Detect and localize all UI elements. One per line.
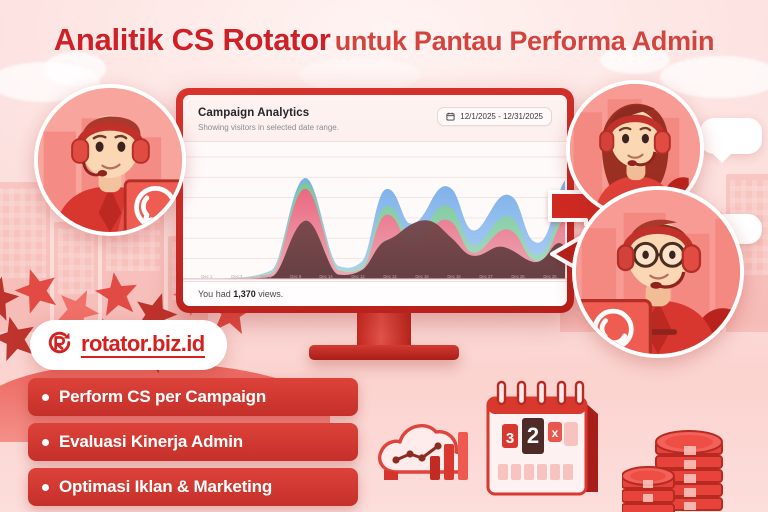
views-summary-value: 1,370 [233,289,256,299]
x-tick: Dec 16 [415,274,428,279]
date-range-label: 12/1/2025 - 12/31/2025 [460,112,543,121]
x-tick: Dec 26 [511,274,524,279]
bullet-dot-icon [42,394,49,401]
x-tick: Dec 14 [383,274,396,279]
feature-item-3[interactable]: Optimasi Iklan & Marketing [28,468,358,506]
speech-bubble [700,118,762,154]
x-tick: Dec 1 [201,274,212,279]
monitor-stand-base [309,345,459,360]
calendar-icon: 3 2 x [480,380,602,502]
bullet-dot-icon [42,484,49,491]
feature-item-label: Evaluasi Kinerja Admin [59,432,243,452]
monitor-stand-neck [357,313,411,347]
calendar-icon [446,112,455,121]
bullet-dot-icon [42,439,49,446]
feature-list: Perform CS per Campaign Evaluasi Kinerja… [28,378,358,512]
feature-item-1[interactable]: Perform CS per Campaign [28,378,358,416]
x-tick: Dec 9 [290,274,301,279]
chart-x-tick-labels: Dec 1 Dec 3 Dec 6 Dec 9 Dec 14 Dec 12 De… [183,274,567,279]
x-tick: Dec 6 [260,274,271,279]
x-tick: Dec 12 [351,274,364,279]
feature-item-2[interactable]: Evaluasi Kinerja Admin [28,423,358,461]
cs-agent-male-left [34,84,186,236]
views-summary: You had 1,370 views. [183,281,567,306]
cloud-icon [300,58,420,92]
analytics-card: Campaign Analytics Showing visitors in s… [183,95,567,306]
decor-icon-cluster: 3 2 x [372,378,768,512]
page-title-rest: untuk Pantau Performa Admin [335,26,714,56]
cs-agent-male-glasses-bottom-right [572,186,744,358]
feature-item-label: Optimasi Iklan & Marketing [59,477,272,497]
analytics-card-header: Campaign Analytics Showing visitors in s… [183,95,567,142]
coin-stack-icon [622,420,752,512]
date-range-picker[interactable]: 12/1/2025 - 12/31/2025 [437,107,552,126]
calendar-day-next: x [552,426,559,440]
x-tick: Dec 3 [231,274,242,279]
x-tick: Dec 27 [479,274,492,279]
x-tick: Dec 16 [447,274,460,279]
feature-item-label: Perform CS per Campaign [59,387,266,407]
calendar-day-prev: 3 [506,430,514,447]
rotator-circle-icon [46,329,73,361]
building-silhouette [54,222,98,332]
chart-plot-area[interactable]: Dec 1 Dec 3 Dec 6 Dec 9 Dec 14 Dec 12 De… [183,142,567,281]
monitor-frame: Campaign Analytics Showing visitors in s… [176,88,574,313]
logo-badge[interactable]: rotator.biz.id [30,320,227,370]
calendar-day-main: 2 [527,423,539,448]
analytics-card-subtitle: Showing visitors in selected date range. [198,123,339,132]
page-title: Analitik CS Rotator untuk Pantau Perform… [0,22,768,58]
poster-canvas: Analitik CS Rotator untuk Pantau Perform… [0,0,768,512]
cloud-analytics-icon [372,408,480,492]
logo-text: rotator.biz.id [81,332,205,358]
x-tick: Dec 14 [319,274,332,279]
page-title-strong: Analitik CS Rotator [54,22,331,57]
views-summary-suffix: views. [256,289,284,299]
views-summary-prefix: You had [198,289,233,299]
analytics-card-title: Campaign Analytics [198,107,339,119]
area-chart-svg [183,142,567,281]
